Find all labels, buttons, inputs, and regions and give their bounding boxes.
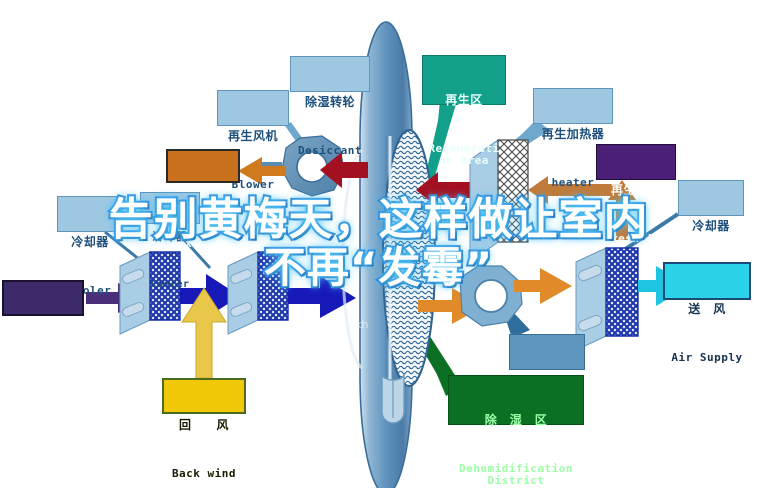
label-desiccant-rotor-cn: 除湿转轮 <box>291 96 369 109</box>
label-back-wind[interactable]: 回 风 Back wind <box>162 378 246 414</box>
rotor-drain <box>382 374 404 423</box>
label-fresh-air-inlet-en: Fresh Air <box>4 370 82 382</box>
label-back-wind-cn: 回 风 <box>164 419 244 432</box>
label-regeneration-fresh-air-en: Fresh Air <box>597 233 675 245</box>
watermark: xh <box>355 318 368 331</box>
label-dehumidification-district-en: Dehumidification District <box>449 463 583 488</box>
label-regeneration-exhaust[interactable]: 再生风出 Exhaust <box>166 149 240 183</box>
label-air-supply-en: Air Supply <box>665 352 749 364</box>
label-cooler-right-cn: 冷却器 <box>679 220 743 233</box>
label-cooler-left-b[interactable]: 冷却器 Cooler <box>140 192 200 224</box>
label-cooler-left-b-en: Cooler <box>141 279 199 290</box>
label-regeneration-heater-cn: 再生加热器 <box>534 128 612 141</box>
diagram-canvas: 除湿转轮 Desiccant 再生风机 Blower 再生风出 Exhaust … <box>0 0 757 488</box>
label-desiccant-rotor-en: Desiccant <box>291 145 369 157</box>
label-regeneration-fresh-air[interactable]: 再生风进 Fresh Air <box>596 144 676 180</box>
label-regeneration-heater[interactable]: 再生加热器 heater <box>533 88 613 124</box>
label-dehumidification-blower[interactable]: 除湿风机 Blower <box>509 334 585 370</box>
label-air-supply-cn: 送 风 <box>665 303 749 316</box>
label-regeneration-blower[interactable]: 再生风机 Blower <box>217 90 289 126</box>
label-cooler-right[interactable]: 冷却器 Cooler <box>678 180 744 216</box>
label-regeneration-area-en: Regenerati on Area <box>423 143 505 168</box>
label-desiccant-rotor[interactable]: 除湿转轮 Desiccant <box>290 56 370 92</box>
label-cooler-left-b-cn: 冷却器 <box>141 231 199 243</box>
label-regeneration-area[interactable]: 再生区 Regenerati on Area <box>422 55 506 105</box>
label-cooler-left-a-cn: 冷却器 <box>58 236 122 249</box>
label-dehumidification-district[interactable]: 除 湿 区 Dehumidification District <box>448 375 584 425</box>
label-regeneration-area-cn: 再生区 <box>423 94 505 107</box>
label-back-wind-en: Back wind <box>164 468 244 480</box>
label-regeneration-blower-cn: 再生风机 <box>218 130 288 143</box>
label-cooler-left-a[interactable]: 冷却器 Cooler <box>57 196 123 232</box>
label-air-supply[interactable]: 送 风 Air Supply <box>663 262 751 300</box>
label-dehumidification-district-cn: 除 湿 区 <box>449 414 583 427</box>
label-fresh-air-inlet-cn: 新 风 <box>4 321 82 334</box>
flow-dehumidified-2 <box>514 268 572 304</box>
label-regeneration-fresh-air-cn: 再生风进 <box>597 184 675 197</box>
label-fresh-air-inlet[interactable]: 新 风 Fresh Air <box>2 280 84 316</box>
